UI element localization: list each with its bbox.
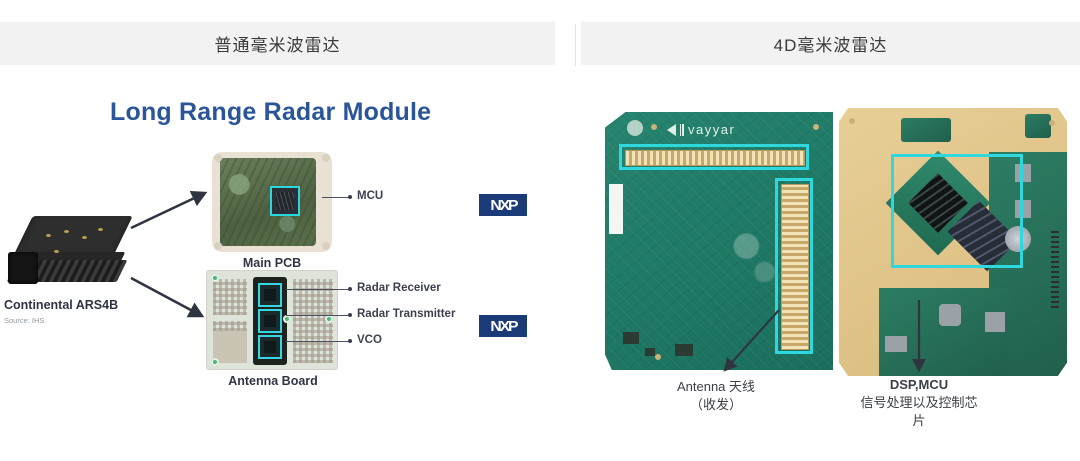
callout-antenna-line1: Antenna 天线 [601,378,831,396]
header-title-left: 普通毫米波雷达 [0,22,555,65]
vco-leader-dot [348,339,352,343]
vco-leader-line [286,341,352,342]
panel-conventional-radar: Long Range Radar Module Continental ARS4… [0,70,555,461]
header-band-left: 普通毫米波雷达 [0,22,555,65]
callout-vco: VCO [357,334,382,346]
transmitter-leader-dot [348,313,352,317]
callout-antenna: Antenna 天线 （收发） [601,378,831,414]
callout-radar-transmitter: Radar Transmitter [357,308,455,320]
callout-dsp-mcu-line3: 片 [819,412,1019,430]
module-to-board-arrows [0,70,555,461]
mcu-leader-dot [348,195,352,199]
panel-4d-radar: vayyar [581,70,1080,461]
receiver-leader-dot [348,287,352,291]
nxp-logo: NXP [479,194,527,216]
header-band-right: 4D毫米波雷达 [581,22,1080,65]
callout-radar-receiver: Radar Receiver [357,282,441,294]
header-divider [575,24,576,66]
callout-mcu: MCU [357,190,383,202]
callout-antenna-line2: （收发） [601,396,831,414]
nxp-logo: NXP [479,315,527,337]
nxp-logo-text: NXP [490,318,516,335]
nxp-logo-text: NXP [490,197,516,214]
header-title-right: 4D毫米波雷达 [581,22,1080,65]
callout-dsp-mcu: DSP,MCU 信号处理以及控制芯 片 [819,376,1019,430]
transmitter-leader-line [286,315,352,316]
callout-dsp-mcu-line1: DSP,MCU [819,376,1019,394]
callout-dsp-mcu-line2: 信号处理以及控制芯 [819,394,1019,412]
receiver-leader-line [286,289,352,290]
